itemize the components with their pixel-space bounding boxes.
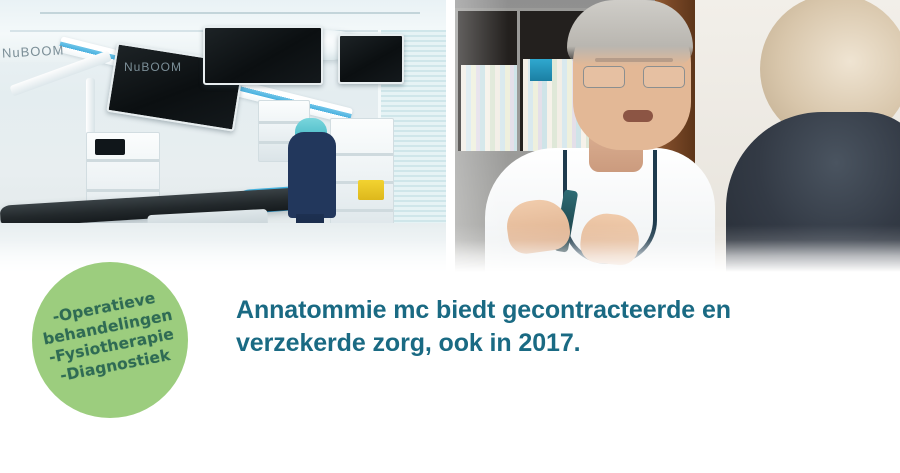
photo-edge-blend: [455, 0, 900, 275]
or-monitor-right: [338, 34, 404, 84]
or-monitor-center: [203, 26, 323, 85]
or-floor: [0, 223, 451, 275]
services-badge: -Operatieve behandelingen -Fysiotherapie…: [32, 262, 188, 418]
promo-banner: NuBOOM NuBOOM: [0, 0, 900, 473]
doctor-consultation-photo: [455, 0, 900, 275]
banner-headline: Annatommie mc biedt gecontracteerde en v…: [236, 294, 876, 361]
operating-room-photo: NuBOOM NuBOOM: [0, 0, 451, 275]
surgeon-figure: [288, 132, 336, 218]
services-badge-text: -Operatieve behandelingen -Fysiotherapie…: [38, 286, 182, 388]
photo-divider: [446, 0, 451, 275]
photo-strip: NuBOOM NuBOOM: [0, 0, 900, 275]
equipment-brand-label-center: NuBOOM: [124, 60, 182, 74]
sharps-container: [358, 180, 384, 200]
